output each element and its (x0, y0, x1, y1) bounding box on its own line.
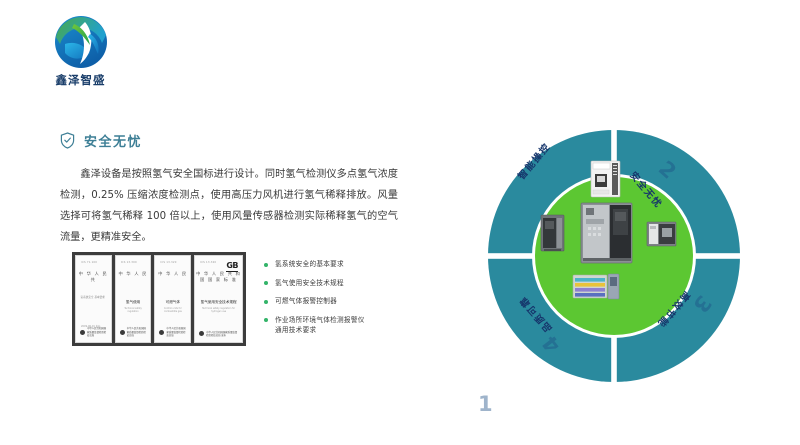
doc-subject: 氢系统安全 基本要求 (81, 296, 105, 300)
doc-seal-icon (199, 331, 204, 336)
doc-issuer: 中华人民共和国国家质量监督检验检疫总局 (127, 327, 147, 337)
list-item: 可燃气体报警控制器 (264, 296, 371, 306)
doc-issuer: 中华人民共和国国家质量监督检验检疫总局 发布 (206, 331, 238, 337)
doc-subject-en: Control units for combustible gas (159, 307, 186, 313)
list-item-label: 可燃气体报警控制器 (275, 296, 337, 306)
doc-issuer: 中华人民共和国国家质量监督检验检疫总局 (87, 327, 107, 337)
doc-footer: 中华人民共和国国家质量监督检验检疫总局 (159, 327, 186, 337)
left-content-column: 安全无忧 鑫泽设备是按照氢气安全国标进行设计。同时氢气检测仪多点氢气浓度检测，0… (60, 130, 410, 248)
list-item: 氢系统安全的基本要求 (264, 259, 371, 269)
shield-check-icon (60, 132, 75, 149)
four-pillar-diagram: 1 智能操控 2 安全无忧 3 高效节能 4 品质可靠 (478, 120, 750, 392)
standard-document-thumbnail: ICS 13.320 GB 中 华 人 民 共 和 国 国 家 标 准 氢气使用… (194, 255, 243, 343)
doc-seal-icon (159, 330, 164, 335)
doc-subject: 氢气使用 (120, 300, 147, 305)
section-header: 安全无忧 (60, 130, 410, 150)
doc-subject-en: Technical safety regulation (120, 307, 147, 313)
doc-ics-code: ICS 13.320 (200, 261, 216, 264)
standards-list: 氢系统安全的基本要求 氢气使用安全技术规程 可燃气体报警控制器 作业场所环境气体… (264, 252, 371, 343)
benchtop-unit-icon (646, 220, 677, 248)
doc-ics-code: ICS 13.300 (121, 261, 137, 264)
standard-document-thumbnail: ICS 13.320 中 华 人 民 可燃气体 Control units fo… (154, 255, 191, 343)
gb-standard-badge: GB (226, 261, 238, 270)
doc-ics-code: ICS 71.100 (81, 261, 97, 264)
doc-footer: 中华人民共和国国家质量监督检验检疫总局 发布 (199, 331, 238, 337)
list-item-label: 作业场所环境气体检测报警仪通用技术要求 (275, 315, 371, 335)
doc-ics-code: ICS 13.320 (160, 261, 176, 264)
doc-title-cn: 中 华 人 民 共 和 国 国 家 标 准 (195, 271, 242, 283)
slide-root: 鑫泽智盛 安全无忧 鑫泽设备是按照氢气安全国标进行设计。同时氢气检测仪多点氢气浓… (0, 0, 800, 445)
list-item-label: 氢系统安全的基本要求 (275, 259, 344, 269)
doc-title-cn: 中 华 人 民 (116, 271, 151, 277)
page-title: 安全无忧 (84, 131, 142, 150)
main-equipment-icon (579, 200, 634, 266)
doc-footer: 中华人民共和国国家质量监督检验检疫总局 (80, 327, 107, 337)
bullet-dot-icon (264, 300, 268, 304)
list-item: 作业场所环境气体检测报警仪通用技术要求 (264, 315, 371, 335)
standard-document-thumbnail: ICS 71.100 中 华 人 民 共 氢系统安全 基本要求 2009-06-… (75, 255, 112, 343)
company-leaf-logo-icon (52, 13, 110, 71)
doc-subject: 可燃气体 (159, 300, 186, 305)
list-item: 氢气使用安全技术规程 (264, 278, 371, 288)
doc-title-cn: 中 华 人 民 (155, 271, 190, 277)
quadrant-number-1: 1 (478, 392, 493, 416)
company-logo: 鑫泽智盛 (33, 13, 128, 85)
doc-title-cn: 中 华 人 民 共 (76, 271, 111, 283)
doc-issuer: 中华人民共和国国家质量监督检验检疫总局 (166, 327, 186, 337)
bullet-dot-icon (264, 263, 268, 267)
body-paragraph: 鑫泽设备是按照氢气安全国标进行设计。同时氢气检测仪多点氢气浓度检测，0.25% … (60, 164, 398, 248)
company-name: 鑫泽智盛 (33, 72, 128, 88)
doc-subject-en: Technical safety regulation for hydrogen… (199, 307, 238, 313)
bullet-dot-icon (264, 281, 268, 285)
doc-subject: 氢气使用安全技术规程 (199, 300, 238, 305)
doc-seal-icon (120, 330, 125, 335)
controller-unit-icon (590, 160, 621, 198)
doc-footer: 中华人民共和国国家质量监督检验检疫总局 (120, 327, 147, 337)
standard-document-thumbnail: ICS 13.300 中 华 人 民 氢气使用 Technical safety… (115, 255, 152, 343)
standards-document-gallery: ICS 71.100 中 华 人 民 共 氢系统安全 基本要求 2009-06-… (72, 252, 246, 346)
side-cabinet-icon (540, 213, 565, 253)
list-item-label: 氢气使用安全技术规程 (275, 278, 344, 288)
doc-seal-icon (80, 330, 85, 335)
standards-row: ICS 71.100 中 华 人 民 共 氢系统安全 基本要求 2009-06-… (72, 252, 412, 346)
rack-system-icon (572, 272, 620, 300)
bullet-dot-icon (264, 318, 268, 322)
